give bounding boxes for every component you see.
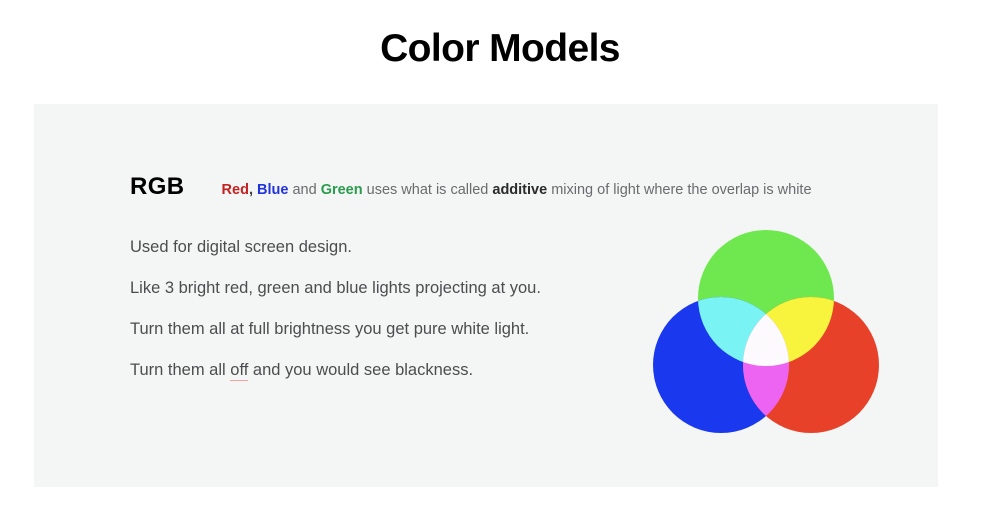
body-line-4-suffix: and you would see blackness.: [248, 361, 473, 379]
rgb-description: Red, Blue and Green uses what is called …: [222, 179, 812, 201]
body-line-4: Turn them all off and you would see blac…: [130, 360, 610, 380]
rgb-label: RGB: [130, 174, 185, 200]
misspelled-word: off: [230, 361, 248, 381]
blue-word: Blue: [257, 182, 288, 198]
green-word: Green: [321, 182, 363, 198]
additive-word: additive: [492, 182, 547, 198]
rgb-heading-row: RGB Red, Blue and Green uses what is cal…: [130, 174, 812, 201]
red-word: Red: [222, 182, 249, 198]
description-mid: uses what is called: [363, 182, 493, 198]
description-and: and: [288, 182, 320, 198]
body-text-block: Used for digital screen design. Like 3 b…: [130, 237, 610, 401]
rgb-venn-diagram: [636, 214, 896, 459]
page-title: Color Models: [0, 26, 1000, 72]
body-line-4-prefix: Turn them all: [130, 361, 230, 379]
body-line-1: Used for digital screen design.: [130, 237, 610, 257]
body-line-3: Turn them all at full brightness you get…: [130, 319, 610, 339]
body-line-2: Like 3 bright red, green and blue lights…: [130, 278, 610, 298]
content-panel: RGB Red, Blue and Green uses what is cal…: [34, 104, 938, 487]
description-tail: mixing of light where the overlap is whi…: [547, 182, 811, 198]
